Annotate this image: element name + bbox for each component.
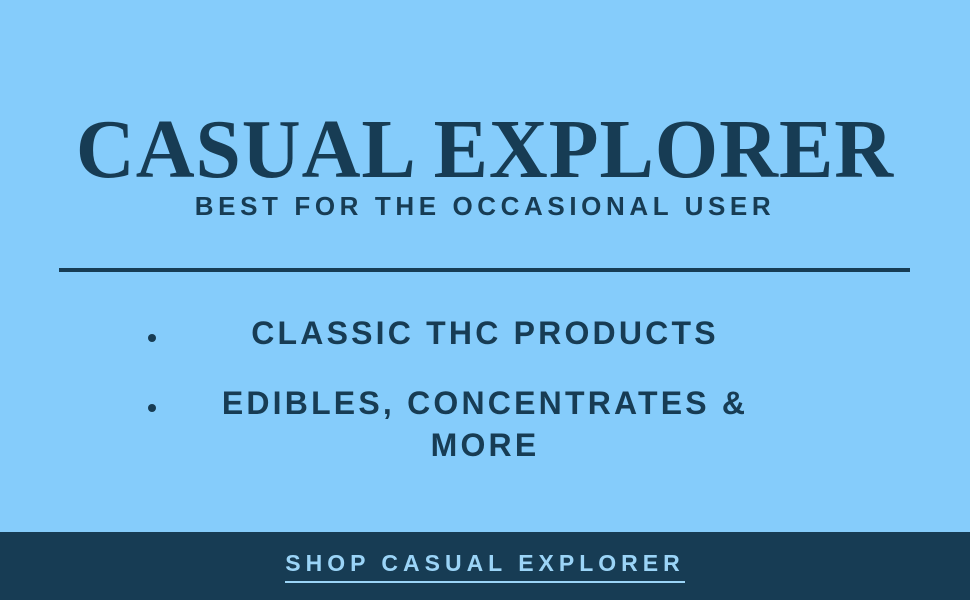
feature-list: CLASSIC THC PRODUCTS EDIBLES, CONCENTRAT…	[0, 312, 970, 466]
card-subtitle: BEST FOR THE OCCASIONAL USER	[0, 190, 970, 222]
card-footer: SHOP CASUAL EXPLORER	[0, 532, 970, 600]
bullet-dot-icon	[148, 404, 156, 412]
list-item-label: CLASSIC THC PRODUCTS	[0, 312, 970, 354]
list-item: EDIBLES, CONCENTRATES & MORE	[0, 382, 970, 466]
page-title: CASUAL EXPLORER	[15, 103, 956, 197]
bullet-dot-icon	[148, 334, 156, 342]
shop-casual-explorer-link[interactable]: SHOP CASUAL EXPLORER	[285, 549, 684, 583]
divider	[59, 268, 910, 272]
list-item: CLASSIC THC PRODUCTS	[0, 312, 970, 354]
list-item-label: EDIBLES, CONCENTRATES & MORE	[0, 382, 970, 466]
pricing-tier-card: CASUAL EXPLORER BEST FOR THE OCCASIONAL …	[0, 0, 970, 600]
